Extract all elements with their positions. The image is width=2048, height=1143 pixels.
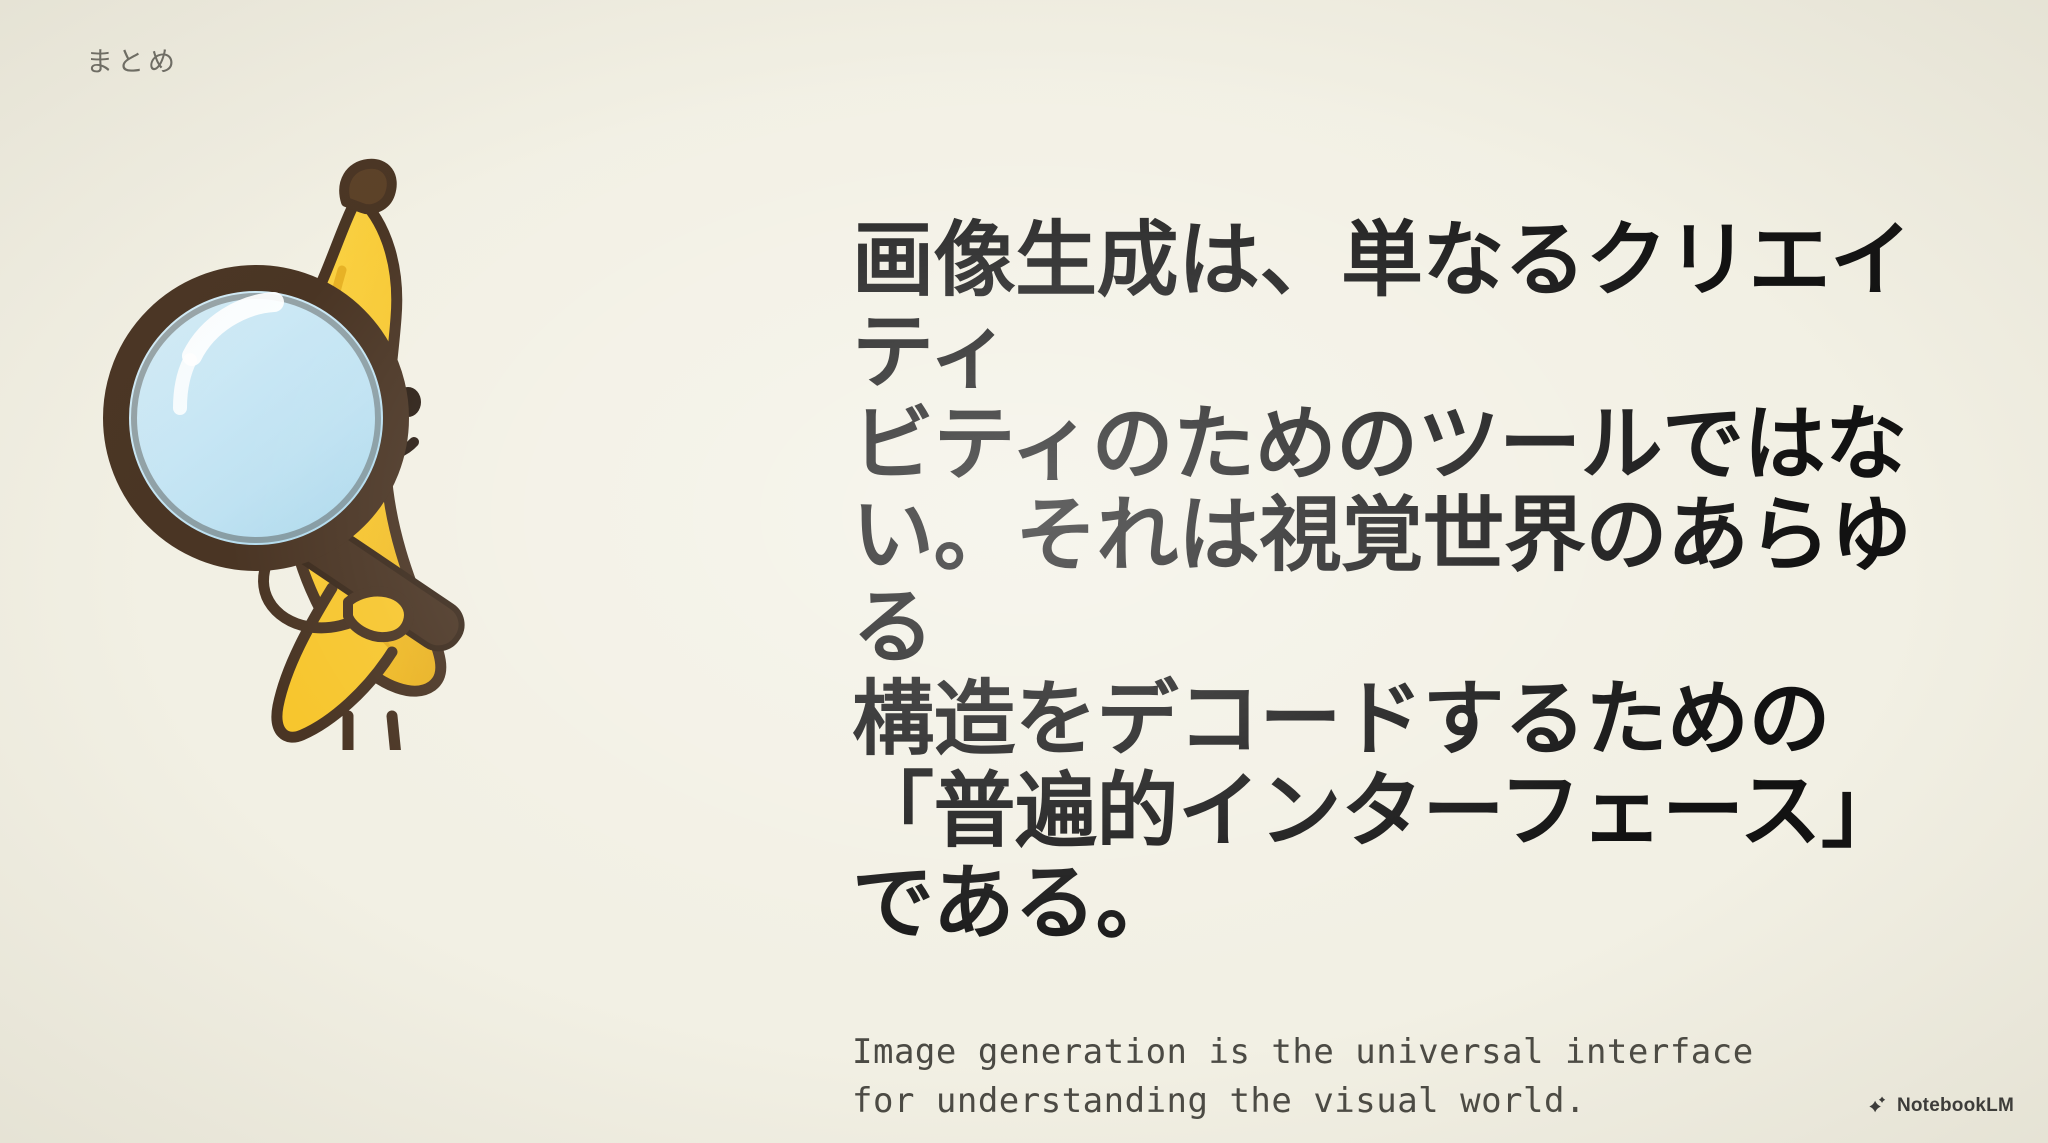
notebooklm-watermark-label: NotebookLM [1897,1095,2014,1117]
banana-character-with-magnifying-glass-illustration [96,150,616,750]
banana-hand [348,592,409,638]
notebooklm-logo-icon [1866,1095,1888,1117]
notebooklm-watermark: NotebookLM [1866,1095,2014,1117]
slide-eyebrow-label: まとめ [86,40,179,79]
slide-headline: 画像生成は、単なるクリエイティ ビティのためのツールではな い。それは視覚世界の… [852,215,1972,950]
banana-stem [344,164,391,209]
slide-canvas: まとめ [0,0,2048,1143]
slide-copy-block: 画像生成は、単なるクリエイティ ビティのためのツールではな い。それは視覚世界の… [852,215,1972,1126]
magnifier-lens [116,278,396,558]
slide-subcopy-english: Image generation is the universal interf… [852,1028,1972,1127]
banana-legs [332,716,414,750]
